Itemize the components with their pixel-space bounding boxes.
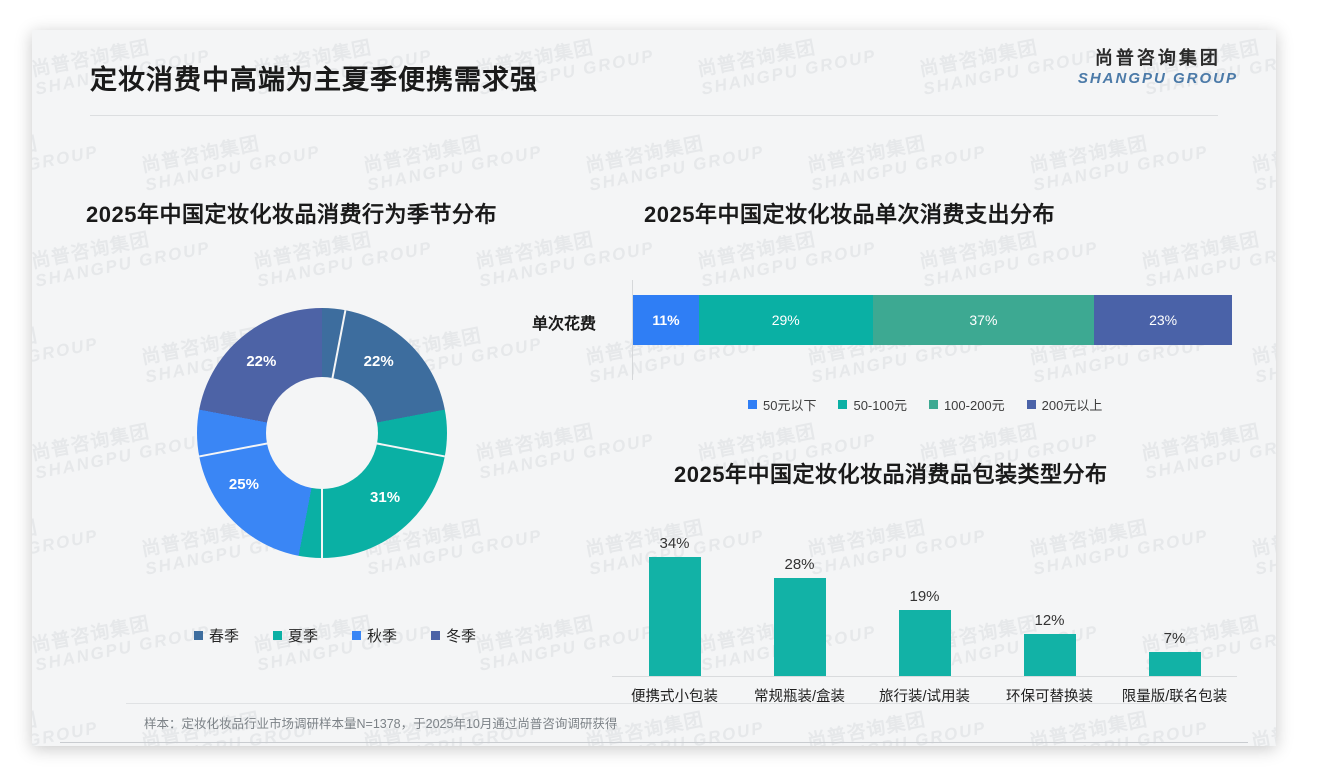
watermark-text: 尚普咨询集团SHANGPU GROUP (474, 219, 656, 290)
package-column-value: 12% (1034, 612, 1064, 629)
watermark-text: 尚普咨询集团SHANGPU GROUP (362, 123, 544, 194)
stacked-segment-200元以上: 23% (1094, 295, 1232, 345)
watermark-text: 尚普咨询集团SHANGPU GROUP (32, 507, 100, 578)
watermark-text: 尚普咨询集团SHANGPU GROUP (1140, 411, 1276, 482)
legend-swatch (273, 631, 282, 640)
spend-row-label: 单次花费 (532, 310, 596, 334)
stacked-segment-50元以下: 11% (633, 295, 699, 345)
donut-slice-value: 31% (370, 489, 400, 506)
watermark-text: 尚普咨询集团SHANGPU GROUP (32, 699, 100, 746)
donut-slice-value: 22% (364, 353, 394, 370)
watermark-text: 尚普咨询集团SHANGPU GROUP (1140, 219, 1276, 290)
watermark-text: 尚普咨询集团SHANGPU GROUP (252, 219, 434, 290)
legend-item-200元以上[interactable]: 200元以上 (1027, 395, 1103, 414)
spend-chart-title: 2025年中国定妆化妆品单次消费支出分布 (644, 197, 1055, 229)
legend-swatch (838, 400, 847, 409)
spend-legend: 50元以下50-100元100-200元200元以上 (748, 395, 1102, 414)
package-column: 7%限量版/联名包装 (1149, 652, 1201, 677)
stacked-segment-100-200元: 37% (873, 295, 1095, 345)
legend-label: 100-200元 (944, 395, 1005, 414)
watermark-text: 尚普咨询集团SHANGPU GROUP (1250, 507, 1276, 578)
legend-item-冬季[interactable]: 冬季 (431, 625, 476, 646)
legend-label: 50-100元 (853, 395, 906, 414)
season-donut-chart (197, 308, 447, 558)
package-column: 34%便携式小包装 (649, 557, 701, 676)
watermark-text: 尚普咨询集团SHANGPU GROUP (32, 603, 212, 674)
legend-item-100-200元[interactable]: 100-200元 (929, 395, 1005, 414)
brand-name-en: SHANGPU GROUP (1078, 70, 1238, 87)
sample-footnote: 样本：定妆化妆品行业市场调研样本量N=1378，于2025年10月通过尚普咨询调… (144, 713, 617, 732)
package-column-bar (1024, 634, 1076, 676)
watermark-text: 尚普咨询集团SHANGPU GROUP (584, 123, 766, 194)
donut-slice-separator (321, 433, 323, 558)
legend-label: 秋季 (367, 625, 397, 646)
legend-label: 冬季 (446, 625, 476, 646)
season-chart-title: 2025年中国定妆化妆品消费行为季节分布 (86, 197, 497, 229)
stacked-segment-value: 11% (652, 312, 679, 328)
stacked-segment-50-100元: 29% (699, 295, 873, 345)
watermark-text: 尚普咨询集团SHANGPU GROUP (140, 123, 322, 194)
legend-swatch (748, 400, 757, 409)
legend-item-春季[interactable]: 春季 (194, 625, 239, 646)
brand-name-cn: 尚普咨询集团 (1078, 48, 1238, 69)
watermark-text: 尚普咨询集团SHANGPU GROUP (32, 219, 212, 290)
legend-swatch (431, 631, 440, 640)
watermark-text: 尚普咨询集团SHANGPU GROUP (918, 219, 1100, 290)
brand-logo: 尚普咨询集团 SHANGPU GROUP (1078, 48, 1238, 87)
page-title: 定妆消费中高端为主夏季便携需求强 (90, 58, 538, 97)
donut-slice-value: 22% (246, 353, 276, 370)
package-chart-title: 2025年中国定妆化妆品消费品包装类型分布 (674, 457, 1107, 489)
stacked-segment-value: 23% (1149, 312, 1177, 328)
package-column: 19%旅行装/试用装 (899, 610, 951, 677)
package-column-value: 7% (1164, 630, 1186, 647)
legend-swatch (352, 631, 361, 640)
legend-item-夏季[interactable]: 夏季 (273, 625, 318, 646)
legend-label: 春季 (209, 625, 239, 646)
footnote-divider (126, 703, 1182, 704)
legend-swatch (194, 631, 203, 640)
watermark-text: 尚普咨询集团SHANGPU GROUP (1250, 699, 1276, 746)
footer-divider (60, 742, 1248, 743)
package-column: 12%环保可替换装 (1024, 634, 1076, 676)
watermark-text: 尚普咨询集团SHANGPU GROUP (1250, 123, 1276, 194)
stacked-segment-value: 37% (969, 312, 997, 328)
watermark-text: 尚普咨询集团SHANGPU GROUP (32, 411, 212, 482)
package-column-bar (1149, 652, 1201, 677)
watermark-text: 尚普咨询集团SHANGPU GROUP (474, 411, 656, 482)
slide-canvas: 尚普咨询集团SHANGPU GROUP尚普咨询集团SHANGPU GROUP尚普… (32, 30, 1276, 746)
watermark-text: 尚普咨询集团SHANGPU GROUP (806, 123, 988, 194)
package-column-value: 28% (784, 556, 814, 573)
watermark-text: 尚普咨询集团SHANGPU GROUP (696, 219, 878, 290)
donut-slice-value: 25% (229, 476, 259, 493)
stacked-segment-value: 29% (772, 312, 800, 328)
legend-swatch (929, 400, 938, 409)
legend-swatch (1027, 400, 1036, 409)
watermark-text: 尚普咨询集团SHANGPU GROUP (32, 123, 100, 194)
package-column-value: 19% (909, 588, 939, 605)
legend-label: 200元以上 (1042, 395, 1103, 414)
legend-label: 夏季 (288, 625, 318, 646)
package-column: 28%常规瓶装/盒装 (774, 578, 826, 676)
watermark-text: 尚普咨询集团SHANGPU GROUP (1250, 315, 1276, 386)
package-column-value: 34% (659, 535, 689, 552)
season-legend: 春季夏季秋季冬季 (194, 625, 476, 646)
package-column-chart: 34%便携式小包装28%常规瓶装/盒装19%旅行装/试用装12%环保可替换装7%… (612, 510, 1237, 710)
legend-item-50元以下[interactable]: 50元以下 (748, 395, 816, 414)
header-divider (90, 115, 1218, 116)
package-baseline (612, 676, 1237, 677)
package-column-bar (649, 557, 701, 676)
package-column-bar (774, 578, 826, 676)
slide-header: 定妆消费中高端为主夏季便携需求强 尚普咨询集团 SHANGPU GROUP (32, 30, 1276, 116)
package-column-bar (899, 610, 951, 677)
legend-item-秋季[interactable]: 秋季 (352, 625, 397, 646)
watermark-text: 尚普咨询集团SHANGPU GROUP (1028, 123, 1210, 194)
legend-item-50-100元[interactable]: 50-100元 (838, 395, 906, 414)
legend-label: 50元以下 (763, 395, 816, 414)
spend-stacked-bar: 11%29%37%23% (633, 295, 1232, 345)
watermark-text: 尚普咨询集团SHANGPU GROUP (32, 315, 100, 386)
